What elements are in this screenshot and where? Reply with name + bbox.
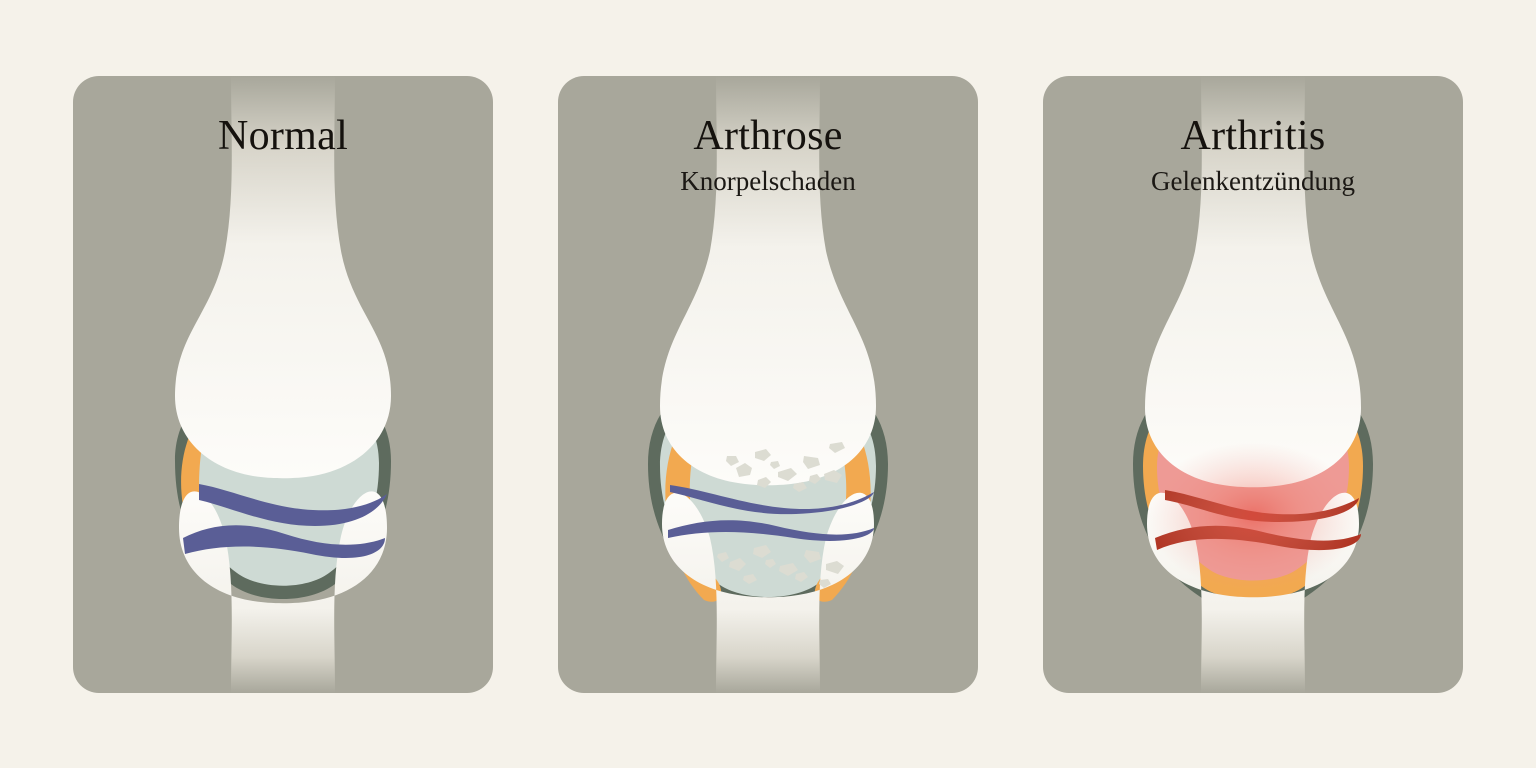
panel-card-arthrose: Arthrose Knorpelschaden — [558, 76, 978, 693]
panel-title-normal: Normal — [73, 114, 493, 159]
comparison-board: Normal — [0, 0, 1536, 768]
panel-header-normal: Normal — [73, 76, 493, 168]
panel-card-arthritis: Arthritis Gelenkentzündung — [1043, 76, 1463, 693]
panel-title-arthritis: Arthritis — [1043, 114, 1463, 159]
healthy-knee-joint-illustration — [73, 76, 493, 693]
panel-card-normal: Normal — [73, 76, 493, 693]
panel-subtitle-arthrose: Knorpelschaden — [558, 167, 978, 197]
panel-subtitle-arthritis: Gelenkentzündung — [1043, 167, 1463, 197]
inflammation-glow — [1147, 442, 1359, 590]
panel-header-arthritis: Arthritis Gelenkentzündung — [1043, 76, 1463, 197]
panel-title-arthrose: Arthrose — [558, 114, 978, 159]
panel-header-arthrose: Arthrose Knorpelschaden — [558, 76, 978, 197]
